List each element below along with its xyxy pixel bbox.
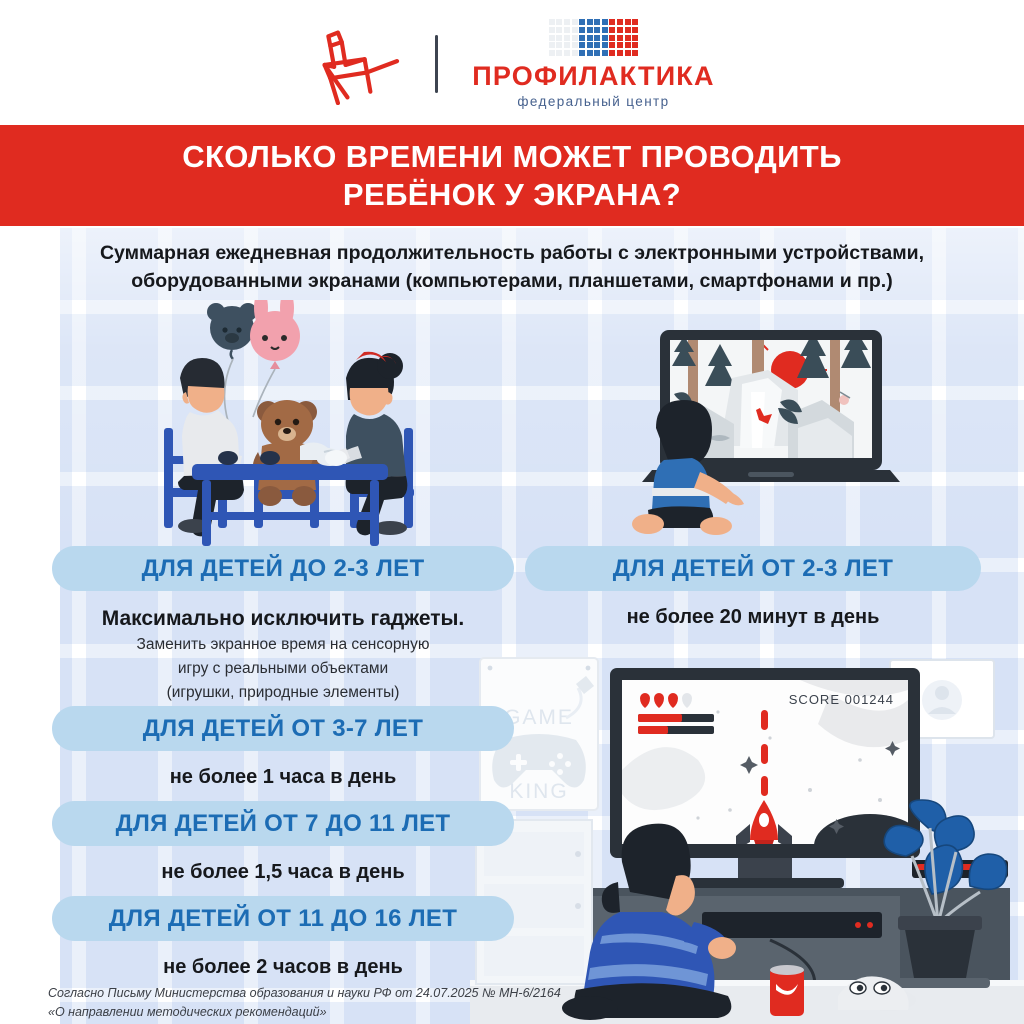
tv-stand-base — [688, 878, 844, 888]
age-pill-label: ДЛЯ ДЕТЕЙ ДО 2-3 ЛЕТ — [142, 557, 425, 581]
title-banner: СКОЛЬКО ВРЕМЕНИ МОЖЕТ ПРОВОДИТЬ РЕБЁНОК … — [0, 125, 1024, 226]
age-pill-ot-3-7[interactable]: ДЛЯ ДЕТЕЙ ОТ 3-7 ЛЕТ — [52, 706, 514, 751]
banner-title-line2: РЕБЁНОК У ЭКРАНА? — [343, 176, 681, 214]
pot-tray — [890, 978, 990, 988]
background-left-margin — [0, 228, 60, 1024]
age-card-do-2-3: ДЛЯ ДЕТЕЙ ДО 2-3 ЛЕТ Максимально исключи… — [52, 546, 514, 703]
age-card-ot-11-16: ДЛЯ ДЕТЕЙ ОТ 11 ДО 16 ЛЕТ не более 2 час… — [52, 896, 514, 980]
brand-lockup: ПРОФИЛАКТИКА федеральный центр — [472, 19, 714, 108]
boy-hand — [708, 937, 736, 959]
age-pill-do-2-3[interactable]: ДЛЯ ДЕТЕЙ ДО 2-3 ЛЕТ — [52, 546, 514, 591]
header: ПРОФИЛАКТИКА федеральный центр — [0, 0, 1024, 125]
plant-pot — [904, 924, 976, 978]
footer-citation: Согласно Письму Министерства образования… — [48, 984, 668, 1023]
poster-text-game: GAME — [504, 706, 574, 729]
infographic-page: ПРОФИЛАКТИКА федеральный центр СКОЛЬКО В… — [0, 0, 1024, 1024]
subtitle-line2: оборудованными экранами (компьютерами, п… — [22, 268, 1002, 296]
poster-text-king: KING — [509, 780, 568, 803]
footer-line1: Согласно Письму Министерства образования… — [48, 984, 668, 1003]
age-pill-label: ДЛЯ ДЕТЕЙ ОТ 11 ДО 16 ЛЕТ — [109, 907, 457, 931]
laser-shots — [761, 710, 768, 796]
logo-row: ПРОФИЛАКТИКА федеральный центр — [0, 18, 1024, 110]
tv-score-label: SCORE 001244 — [789, 692, 894, 707]
brand-subtitle: федеральный центр — [517, 94, 669, 109]
subtitle: Суммарная ежедневная продолжительность р… — [22, 240, 1002, 295]
children-tea-party-illustration — [150, 300, 440, 550]
age-pill-ot-7-11[interactable]: ДЛЯ ДЕТЕЙ ОТ 7 ДО 11 ЛЕТ — [52, 801, 514, 846]
age-card-desc: не более 2 часов в день — [52, 954, 514, 980]
age-pill-label: ДЛЯ ДЕТЕЙ ОТ 2-3 ЛЕТ — [613, 557, 893, 581]
age-pill-label: ДЛЯ ДЕТЕЙ ОТ 3-7 ЛЕТ — [143, 717, 423, 741]
age-pill-ot-2-3[interactable]: ДЛЯ ДЕТЕЙ ОТ 2-3 ЛЕТ — [525, 546, 981, 591]
age-card-small-line2: игру с реальными объектами — [52, 659, 514, 680]
age-card-ot-3-7: ДЛЯ ДЕТЕЙ ОТ 3-7 ЛЕТ не более 1 часа в д… — [52, 706, 514, 790]
age-pill-ot-11-16[interactable]: ДЛЯ ДЕТЕЙ ОТ 11 ДО 16 ЛЕТ — [52, 896, 514, 941]
age-pill-label: ДЛЯ ДЕТЕЙ ОТ 7 ДО 11 ЛЕТ — [116, 812, 451, 836]
boy-playing-console-illustration: GAME KING — [470, 650, 1024, 1024]
chair-outline-icon — [309, 23, 405, 105]
child-watching-laptop-illustration — [612, 322, 932, 550]
age-card-small-line1: Заменить экранное время на сенсорную — [52, 635, 514, 656]
logo-divider — [435, 35, 438, 93]
footer-line2: «О направлении методических рекомендаций… — [48, 1003, 668, 1022]
age-card-ot-2-3: ДЛЯ ДЕТЕЙ ОТ 2-3 ЛЕТ не более 20 минут в… — [525, 546, 981, 630]
brand-name: ПРОФИЛАКТИКА — [472, 63, 714, 90]
age-card-ot-7-11: ДЛЯ ДЕТЕЙ ОТ 7 ДО 11 ЛЕТ не более 1,5 ча… — [52, 801, 514, 885]
girl-figure — [324, 352, 407, 536]
russian-flag-dots-icon — [549, 19, 639, 55]
soda-can — [770, 965, 804, 1016]
age-card-small-line3: (игрушки, природные элементы) — [52, 683, 514, 704]
age-card-desc: не более 20 минут в день — [525, 604, 981, 630]
age-card-desc: не более 1 часа в день — [52, 764, 514, 790]
age-card-desc: не более 1,5 часа в день — [52, 859, 514, 885]
age-card-strong-text: Максимально исключить гаджеты. — [52, 605, 514, 632]
tv-stand-neck — [738, 858, 792, 880]
banner-title-line1: СКОЛЬКО ВРЕМЕНИ МОЖЕТ ПРОВОДИТЬ — [182, 138, 842, 176]
bunny-balloon — [250, 300, 300, 417]
subtitle-line1: Суммарная ежедневная продолжительность р… — [22, 240, 1002, 268]
